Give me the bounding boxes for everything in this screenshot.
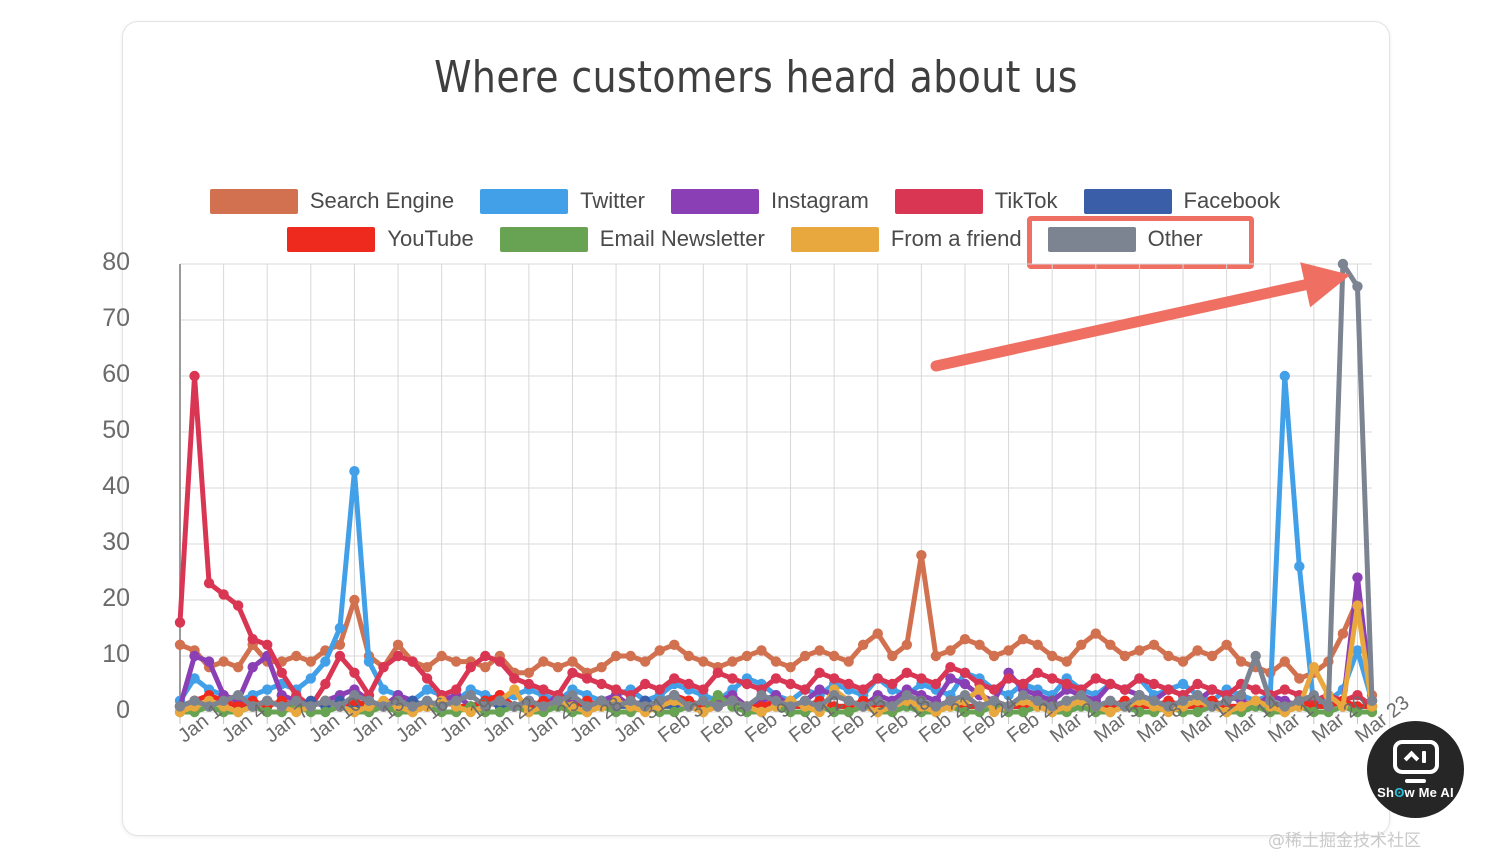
x-axis-tick-label: Mar 5 [1090,699,1144,749]
x-axis-tick-label: Jan 1 [174,700,227,748]
screenshot-root: Where customers heard about us Search En… [0,0,1512,865]
x-axis-tick-label: Feb 6 [697,699,751,749]
x-axis-tick-label: Jan 7 [261,700,314,748]
x-axis-labels: Jan 1Jan 4Jan 7Jan 10Jan 13Jan 16Jan 19J… [0,0,1512,865]
bar-icon [1422,751,1426,763]
robot-mouth-icon [1405,779,1426,783]
x-axis-tick-label: Feb 9 [741,699,795,749]
x-axis-tick-label: Mar 8 [1133,699,1187,749]
show-me-ai-badge: Shʘw Me AI [1367,721,1464,818]
x-axis-tick-label: Jan 4 [218,700,271,748]
badge-label: Shʘw Me AI [1377,785,1454,800]
chevron-up-icon [1403,751,1419,767]
robot-face-icon [1393,740,1439,774]
watermark: @稀土掘金技术社区 [1268,826,1421,851]
